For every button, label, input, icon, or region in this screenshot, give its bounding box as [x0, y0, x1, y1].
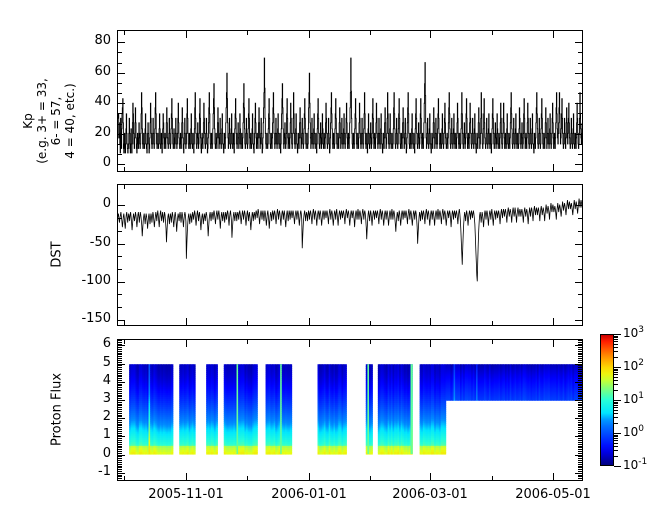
tick-mark	[118, 164, 125, 165]
tick-label: -50	[71, 235, 111, 250]
tick-mark	[578, 52, 582, 53]
tick-mark	[118, 269, 122, 270]
tick-mark	[118, 307, 122, 308]
panel-dst-plot	[118, 185, 582, 325]
tick-mark	[118, 231, 122, 232]
panel-proton-flux-heatmap	[118, 340, 582, 480]
tick-mark	[578, 307, 582, 308]
tick-mark	[575, 164, 582, 165]
tick-mark	[118, 63, 122, 64]
heatmap-cell	[290, 452, 292, 455]
tick-mark	[575, 42, 582, 43]
ylabel-line: Kp	[21, 46, 35, 196]
tick-mark	[578, 218, 582, 219]
heatmap-cell	[345, 452, 347, 455]
tick-mark	[118, 93, 122, 94]
tick-mark	[118, 134, 125, 135]
tick-mark	[578, 124, 582, 125]
figure-canvas: Kp(e.g. 3+ = 33,6- = 57,4 = 40, etc.) 02…	[0, 0, 665, 523]
tick-label: -150	[71, 311, 111, 326]
tick-mark	[578, 231, 582, 232]
tick-mark	[118, 256, 122, 257]
heatmap-cell	[171, 452, 173, 455]
tick-mark	[118, 103, 125, 104]
data-series-line	[118, 199, 582, 282]
tick-mark	[118, 42, 125, 43]
tick-mark	[118, 124, 122, 125]
tick-mark	[578, 256, 582, 257]
tick-mark	[118, 52, 122, 53]
tick-mark	[118, 73, 125, 74]
heatmap-cell	[371, 452, 373, 455]
tick-label: 40	[71, 94, 111, 109]
ylabel-line: (e.g. 3+ = 33,	[35, 46, 49, 196]
tick-mark	[575, 282, 582, 283]
panel-dst-ylabel: DST	[50, 215, 65, 295]
tick-label: 0	[71, 155, 111, 170]
tick-label: 80	[71, 33, 111, 48]
tick-mark	[575, 73, 582, 74]
tick-mark	[578, 294, 582, 295]
tick-mark	[118, 113, 122, 114]
tick-mark	[118, 154, 122, 155]
tick-mark	[118, 144, 122, 145]
tick-mark	[118, 218, 122, 219]
tick-mark	[578, 83, 582, 84]
tick-mark	[118, 244, 125, 245]
heatmap-cell	[193, 452, 195, 455]
tick-mark	[118, 294, 122, 295]
panel-proton-flux-ylabel: Proton Flux	[50, 360, 65, 460]
tick-mark	[118, 282, 125, 283]
tick-label: 0	[71, 196, 111, 211]
ylabel-line: DST	[50, 215, 65, 295]
heatmap-cell	[256, 452, 258, 455]
tick-mark	[578, 63, 582, 64]
data-series-line	[118, 58, 582, 153]
tick-mark	[578, 93, 582, 94]
tick-label: 20	[71, 125, 111, 140]
tick-label: -100	[71, 273, 111, 288]
tick-mark	[578, 269, 582, 270]
panel-kp-ylabel: Kp(e.g. 3+ = 33,6- = 57,4 = 40, etc.)	[21, 46, 77, 196]
tick-mark	[578, 154, 582, 155]
ylabel-line: Proton Flux	[50, 360, 65, 460]
tick-mark	[575, 320, 582, 321]
tick-mark	[578, 113, 582, 114]
panel-kp-plot	[118, 31, 582, 171]
tick-mark	[575, 103, 582, 104]
tick-mark	[575, 205, 582, 206]
tick-label: 60	[71, 64, 111, 79]
heatmap-cell	[216, 452, 218, 455]
tick-mark	[578, 144, 582, 145]
tick-mark	[118, 205, 125, 206]
tick-mark	[575, 244, 582, 245]
tick-mark	[118, 83, 122, 84]
tick-mark	[575, 134, 582, 135]
ylabel-line: 6- = 57,	[49, 46, 63, 196]
